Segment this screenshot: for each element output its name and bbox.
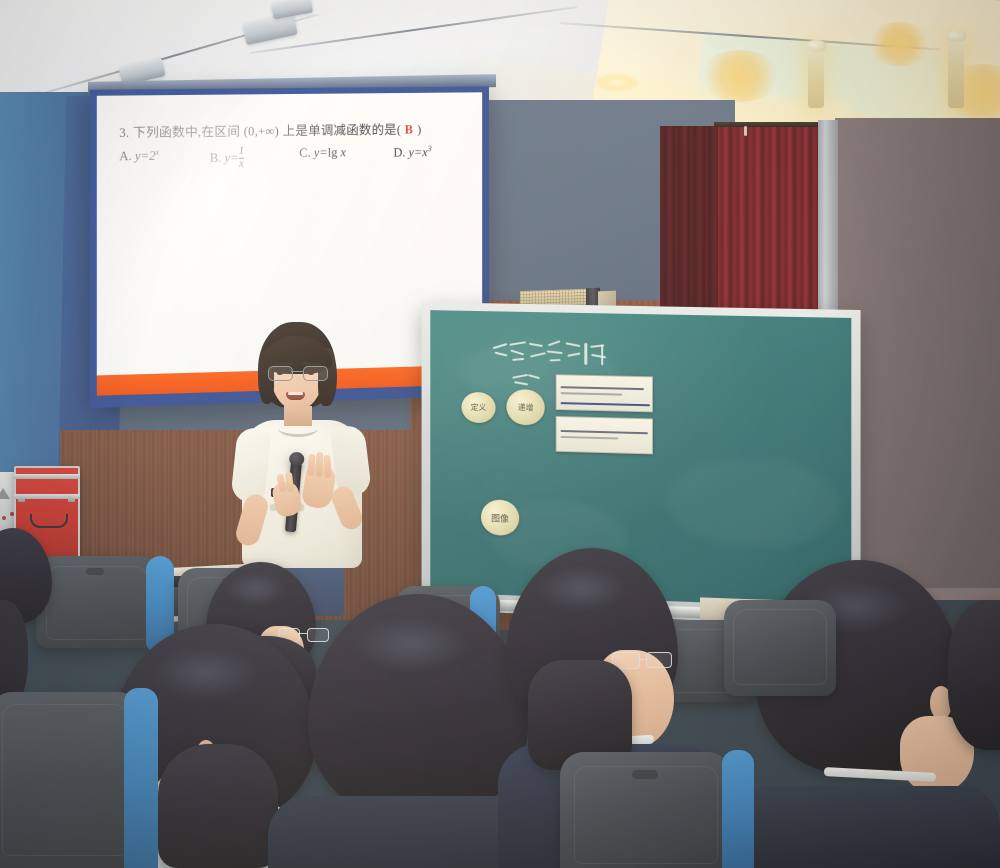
card-ink-line bbox=[561, 386, 644, 390]
option-a-exponent: x bbox=[156, 148, 160, 157]
glasses-lens bbox=[307, 628, 329, 642]
magnet-graph: 图像 bbox=[481, 499, 519, 536]
option-b-denominator: x bbox=[239, 158, 245, 170]
downlight-glow bbox=[700, 50, 780, 102]
student-hair-front bbox=[158, 744, 278, 868]
option-c-arg: x bbox=[340, 145, 346, 159]
auditorium-seat[interactable] bbox=[724, 600, 836, 696]
chalk-stroke bbox=[591, 354, 606, 359]
case-latch bbox=[68, 495, 75, 502]
seat-inner-panel bbox=[2, 704, 128, 856]
glasses-bridge bbox=[638, 659, 646, 660]
seat-inner-panel bbox=[574, 766, 718, 864]
slide-answer-letter: B bbox=[405, 123, 414, 137]
option-c-label: C. bbox=[299, 146, 310, 160]
seat-inner-panel bbox=[733, 609, 827, 685]
recessed-downlight bbox=[596, 74, 638, 91]
slide-option-b: B. y=1x bbox=[210, 146, 296, 171]
chalk-stroke bbox=[584, 343, 587, 365]
magnet-graph-label: 图像 bbox=[491, 511, 509, 524]
slide-option-d: D. y=x3 bbox=[393, 144, 431, 161]
chalk-stroke bbox=[547, 350, 563, 354]
chalk-stroke bbox=[567, 352, 580, 356]
hair-highlight bbox=[536, 566, 628, 612]
option-c-eq: = bbox=[319, 146, 327, 160]
question-number: 3. bbox=[119, 126, 129, 140]
question-close-paren: ) bbox=[417, 123, 421, 137]
chalk-stroke bbox=[512, 358, 524, 361]
auditorium-seat-trim bbox=[124, 688, 158, 868]
chalk-stroke bbox=[510, 349, 524, 355]
card-condition-1 bbox=[556, 374, 653, 412]
downlight-glow bbox=[868, 22, 930, 66]
chalk-stroke bbox=[548, 340, 561, 346]
seat-inner-panel bbox=[46, 566, 148, 640]
question-text-part1: 下列函数中,在区间 bbox=[133, 125, 240, 140]
option-b-eq: = bbox=[230, 151, 238, 165]
student-shoulders bbox=[728, 786, 1000, 868]
glasses-bridge bbox=[298, 633, 307, 634]
teacher-glasses bbox=[268, 366, 328, 380]
teacher-teeth bbox=[288, 392, 303, 395]
option-b-numerator: 1 bbox=[239, 146, 245, 158]
teacher-collar bbox=[278, 420, 318, 437]
question-interval: (0,+∞) bbox=[244, 124, 280, 138]
glasses-lens bbox=[268, 366, 293, 381]
classroom-photo: 3. 下列函数中,在区间 (0,+∞) 上是单调减函数的是( B ) A. y=… bbox=[0, 0, 1000, 868]
hair-highlight bbox=[352, 616, 470, 672]
chalk-stroke bbox=[509, 341, 526, 346]
magnet-increasing-label: 递增 bbox=[518, 402, 534, 413]
teacher-mouth bbox=[286, 392, 305, 400]
teacher-finger bbox=[316, 452, 324, 477]
question-text-part2: 上是单调减函数的是( bbox=[283, 123, 402, 138]
chalk-smudge bbox=[667, 455, 839, 551]
option-d-eq: = bbox=[414, 146, 422, 160]
option-b-label: B. bbox=[210, 151, 222, 165]
chalk-stroke bbox=[565, 342, 580, 347]
pendant-lamp bbox=[948, 36, 964, 108]
chalk-stroke bbox=[493, 343, 508, 349]
warning-triangle-icon bbox=[0, 488, 10, 499]
card-ink-line bbox=[561, 430, 648, 434]
magnet-definition-label: 定义 bbox=[471, 402, 487, 413]
card-ink-line bbox=[561, 436, 619, 439]
chalkboard-title bbox=[491, 339, 611, 367]
option-c-function: lg bbox=[328, 145, 338, 159]
case-band bbox=[14, 474, 80, 479]
auditorium-seat-trim bbox=[722, 750, 754, 868]
hair-highlight bbox=[226, 572, 286, 606]
case-latch bbox=[18, 495, 25, 502]
chalk-stroke bbox=[530, 352, 546, 357]
student-head bbox=[948, 600, 1000, 750]
chalk-stroke bbox=[550, 359, 561, 362]
case-indicator bbox=[2, 516, 6, 520]
card-ink-line bbox=[561, 392, 622, 395]
auditorium-seat[interactable] bbox=[36, 556, 158, 648]
chalk-stroke bbox=[601, 344, 603, 365]
magnet-increasing: 递增 bbox=[506, 389, 544, 426]
teacher-finger bbox=[323, 455, 331, 478]
curtain-hook bbox=[744, 126, 747, 136]
glasses-lens bbox=[303, 366, 328, 381]
chalk-stroke bbox=[495, 352, 508, 357]
chalk-stroke bbox=[529, 343, 543, 347]
magnet-definition: 定义 bbox=[461, 392, 495, 424]
option-b-fraction: 1x bbox=[239, 146, 245, 170]
slide-question-line: 3. 下列函数中,在区间 (0,+∞) 上是单调减函数的是( B ) bbox=[119, 118, 468, 141]
slide-option-c: C. y=lg x bbox=[299, 145, 390, 161]
pendant-lamp bbox=[808, 46, 824, 108]
option-d-label: D. bbox=[393, 146, 405, 160]
slide-options: A. y=2x B. y=1x C. y=lg x D. y=x3 bbox=[119, 144, 478, 173]
student-glasses bbox=[612, 652, 670, 668]
auditorium-seat-front[interactable] bbox=[0, 692, 140, 868]
card-underline bbox=[561, 402, 650, 407]
card-condition-2 bbox=[556, 416, 653, 454]
glasses-lens bbox=[646, 652, 672, 668]
slide-option-a: A. y=2x bbox=[119, 147, 206, 164]
option-a-label: A. bbox=[119, 149, 131, 163]
option-a-eq: = bbox=[141, 149, 150, 163]
pendant-cap bbox=[945, 30, 967, 42]
case-handle bbox=[30, 514, 68, 528]
glasses-bridge bbox=[291, 371, 303, 372]
hair-highlight bbox=[150, 646, 260, 700]
pendant-cap bbox=[805, 40, 827, 52]
auditorium-seat-front[interactable] bbox=[560, 752, 732, 868]
chalkboard-surface: 定义 递增 图像 bbox=[430, 310, 851, 608]
option-d-exponent: 3 bbox=[428, 144, 432, 153]
